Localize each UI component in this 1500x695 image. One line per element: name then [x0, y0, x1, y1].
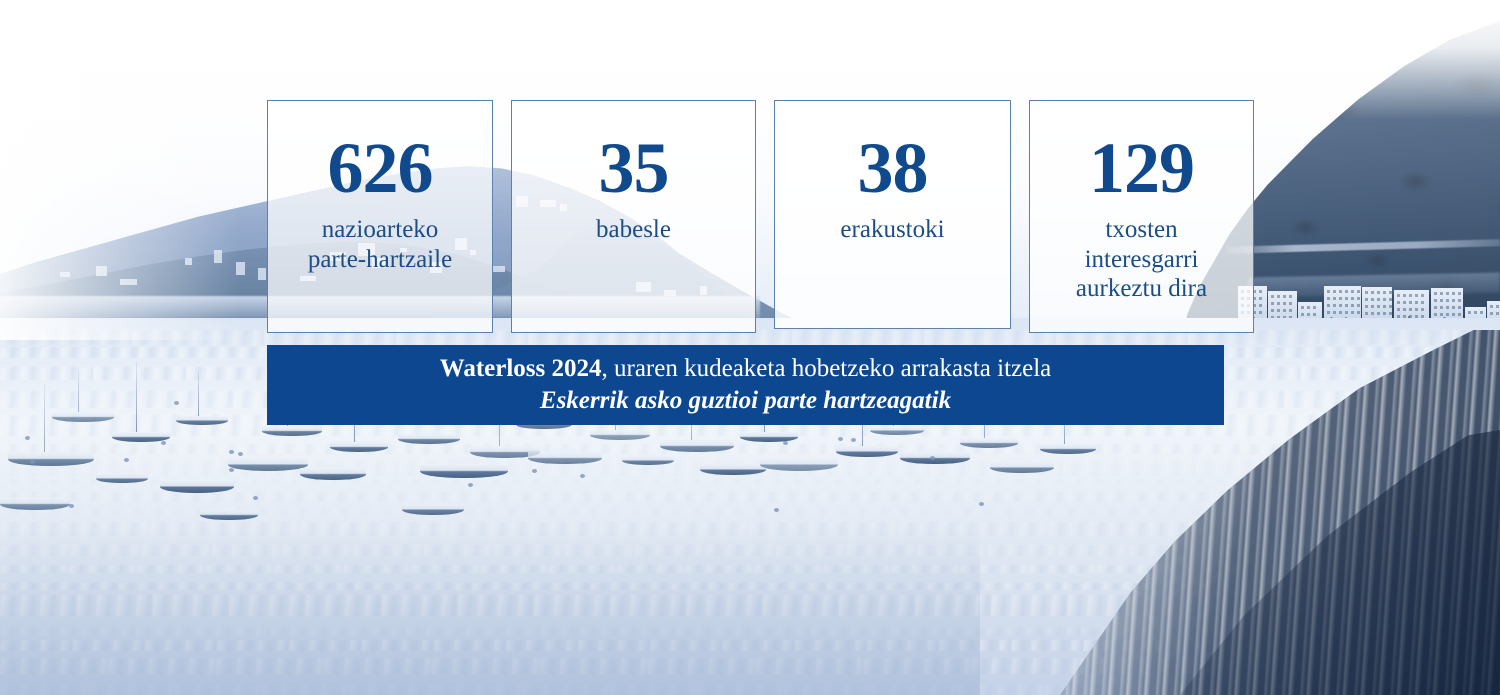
mooring-buoy	[229, 450, 234, 454]
stat-label-sponsors: babesle	[526, 215, 741, 245]
boat	[52, 352, 114, 422]
boat	[96, 414, 148, 483]
hull	[300, 468, 366, 480]
hillside-house	[120, 279, 137, 285]
stat-label-participants: nazioarteko parte-hartzaile	[282, 215, 478, 274]
stat-card-exhibitors: 38 erakustoki	[774, 100, 1011, 329]
stat-value-sponsors: 35	[526, 135, 741, 201]
hull	[330, 442, 388, 452]
hull	[200, 510, 258, 520]
stat-label-reports: txosten interesgarri aurkeztu dira	[1044, 215, 1239, 304]
mooring-buoy	[174, 401, 179, 405]
hull	[1040, 444, 1096, 454]
mooring-buoy	[30, 460, 35, 464]
banner-line-2: Eskerrik asko guztioi parte hartzeagatik	[540, 386, 951, 417]
mooring-buoy	[532, 469, 537, 473]
hull	[0, 498, 70, 510]
stat-label-line: aurkeztu dira	[1044, 274, 1239, 304]
mast	[198, 371, 199, 419]
mooring-buoy	[253, 496, 258, 500]
mooring-buoy	[69, 504, 74, 508]
boat	[0, 438, 70, 510]
stat-card-participants: 626 nazioarteko parte-hartzaile	[267, 100, 493, 333]
stats-row: 626 nazioarteko parte-hartzaile 35 babes…	[267, 100, 1254, 333]
message-banner: Waterloss 2024, uraren kudeaketa hobetze…	[267, 345, 1224, 425]
hull	[402, 504, 464, 515]
hull	[836, 446, 898, 457]
hillside-house	[96, 266, 107, 276]
hull	[528, 452, 602, 464]
boat	[200, 450, 258, 520]
stat-label-line: nazioarteko	[282, 215, 478, 245]
banner-line-1: Waterloss 2024, uraren kudeaketa hobetze…	[440, 354, 1052, 385]
mooring-buoy	[161, 441, 166, 445]
poster-root: 626 nazioarteko parte-hartzaile 35 babes…	[0, 0, 1500, 695]
mooring-buoy	[774, 508, 779, 512]
water-shading	[0, 520, 980, 695]
hull	[990, 462, 1054, 473]
hillside-house	[214, 250, 222, 263]
stat-label-exhibitors: erakustoki	[789, 215, 996, 245]
boat	[402, 444, 464, 515]
mooring-buoy	[124, 458, 129, 462]
hull	[176, 416, 228, 425]
hull	[622, 456, 674, 465]
hillside-house	[60, 272, 70, 277]
stat-label-line: parte-hartzaile	[282, 245, 478, 275]
banner-event-name: Waterloss 2024	[440, 355, 602, 382]
hull	[760, 458, 838, 471]
mooring-buoy	[229, 468, 234, 472]
stat-value-exhibitors: 38	[789, 135, 996, 201]
mooring-buoy	[851, 438, 856, 442]
stat-value-participants: 626	[282, 135, 478, 201]
stat-label-line: txosten	[1044, 215, 1239, 245]
stat-card-sponsors: 35 babesle	[511, 100, 756, 333]
mast	[78, 370, 79, 416]
stat-card-reports: 129 txosten interesgarri aurkeztu dira	[1029, 100, 1254, 333]
stat-value-reports: 129	[1044, 135, 1239, 201]
hillside-house	[185, 258, 192, 265]
hillside-house	[236, 262, 245, 275]
hull	[96, 474, 148, 483]
stat-label-line: interesgarri	[1044, 245, 1239, 275]
boat	[176, 356, 228, 425]
hillside-house	[258, 268, 266, 280]
hull	[700, 464, 766, 475]
banner-line-1-rest: , uraren kudeaketa hobetzeko arrakasta i…	[602, 355, 1052, 382]
